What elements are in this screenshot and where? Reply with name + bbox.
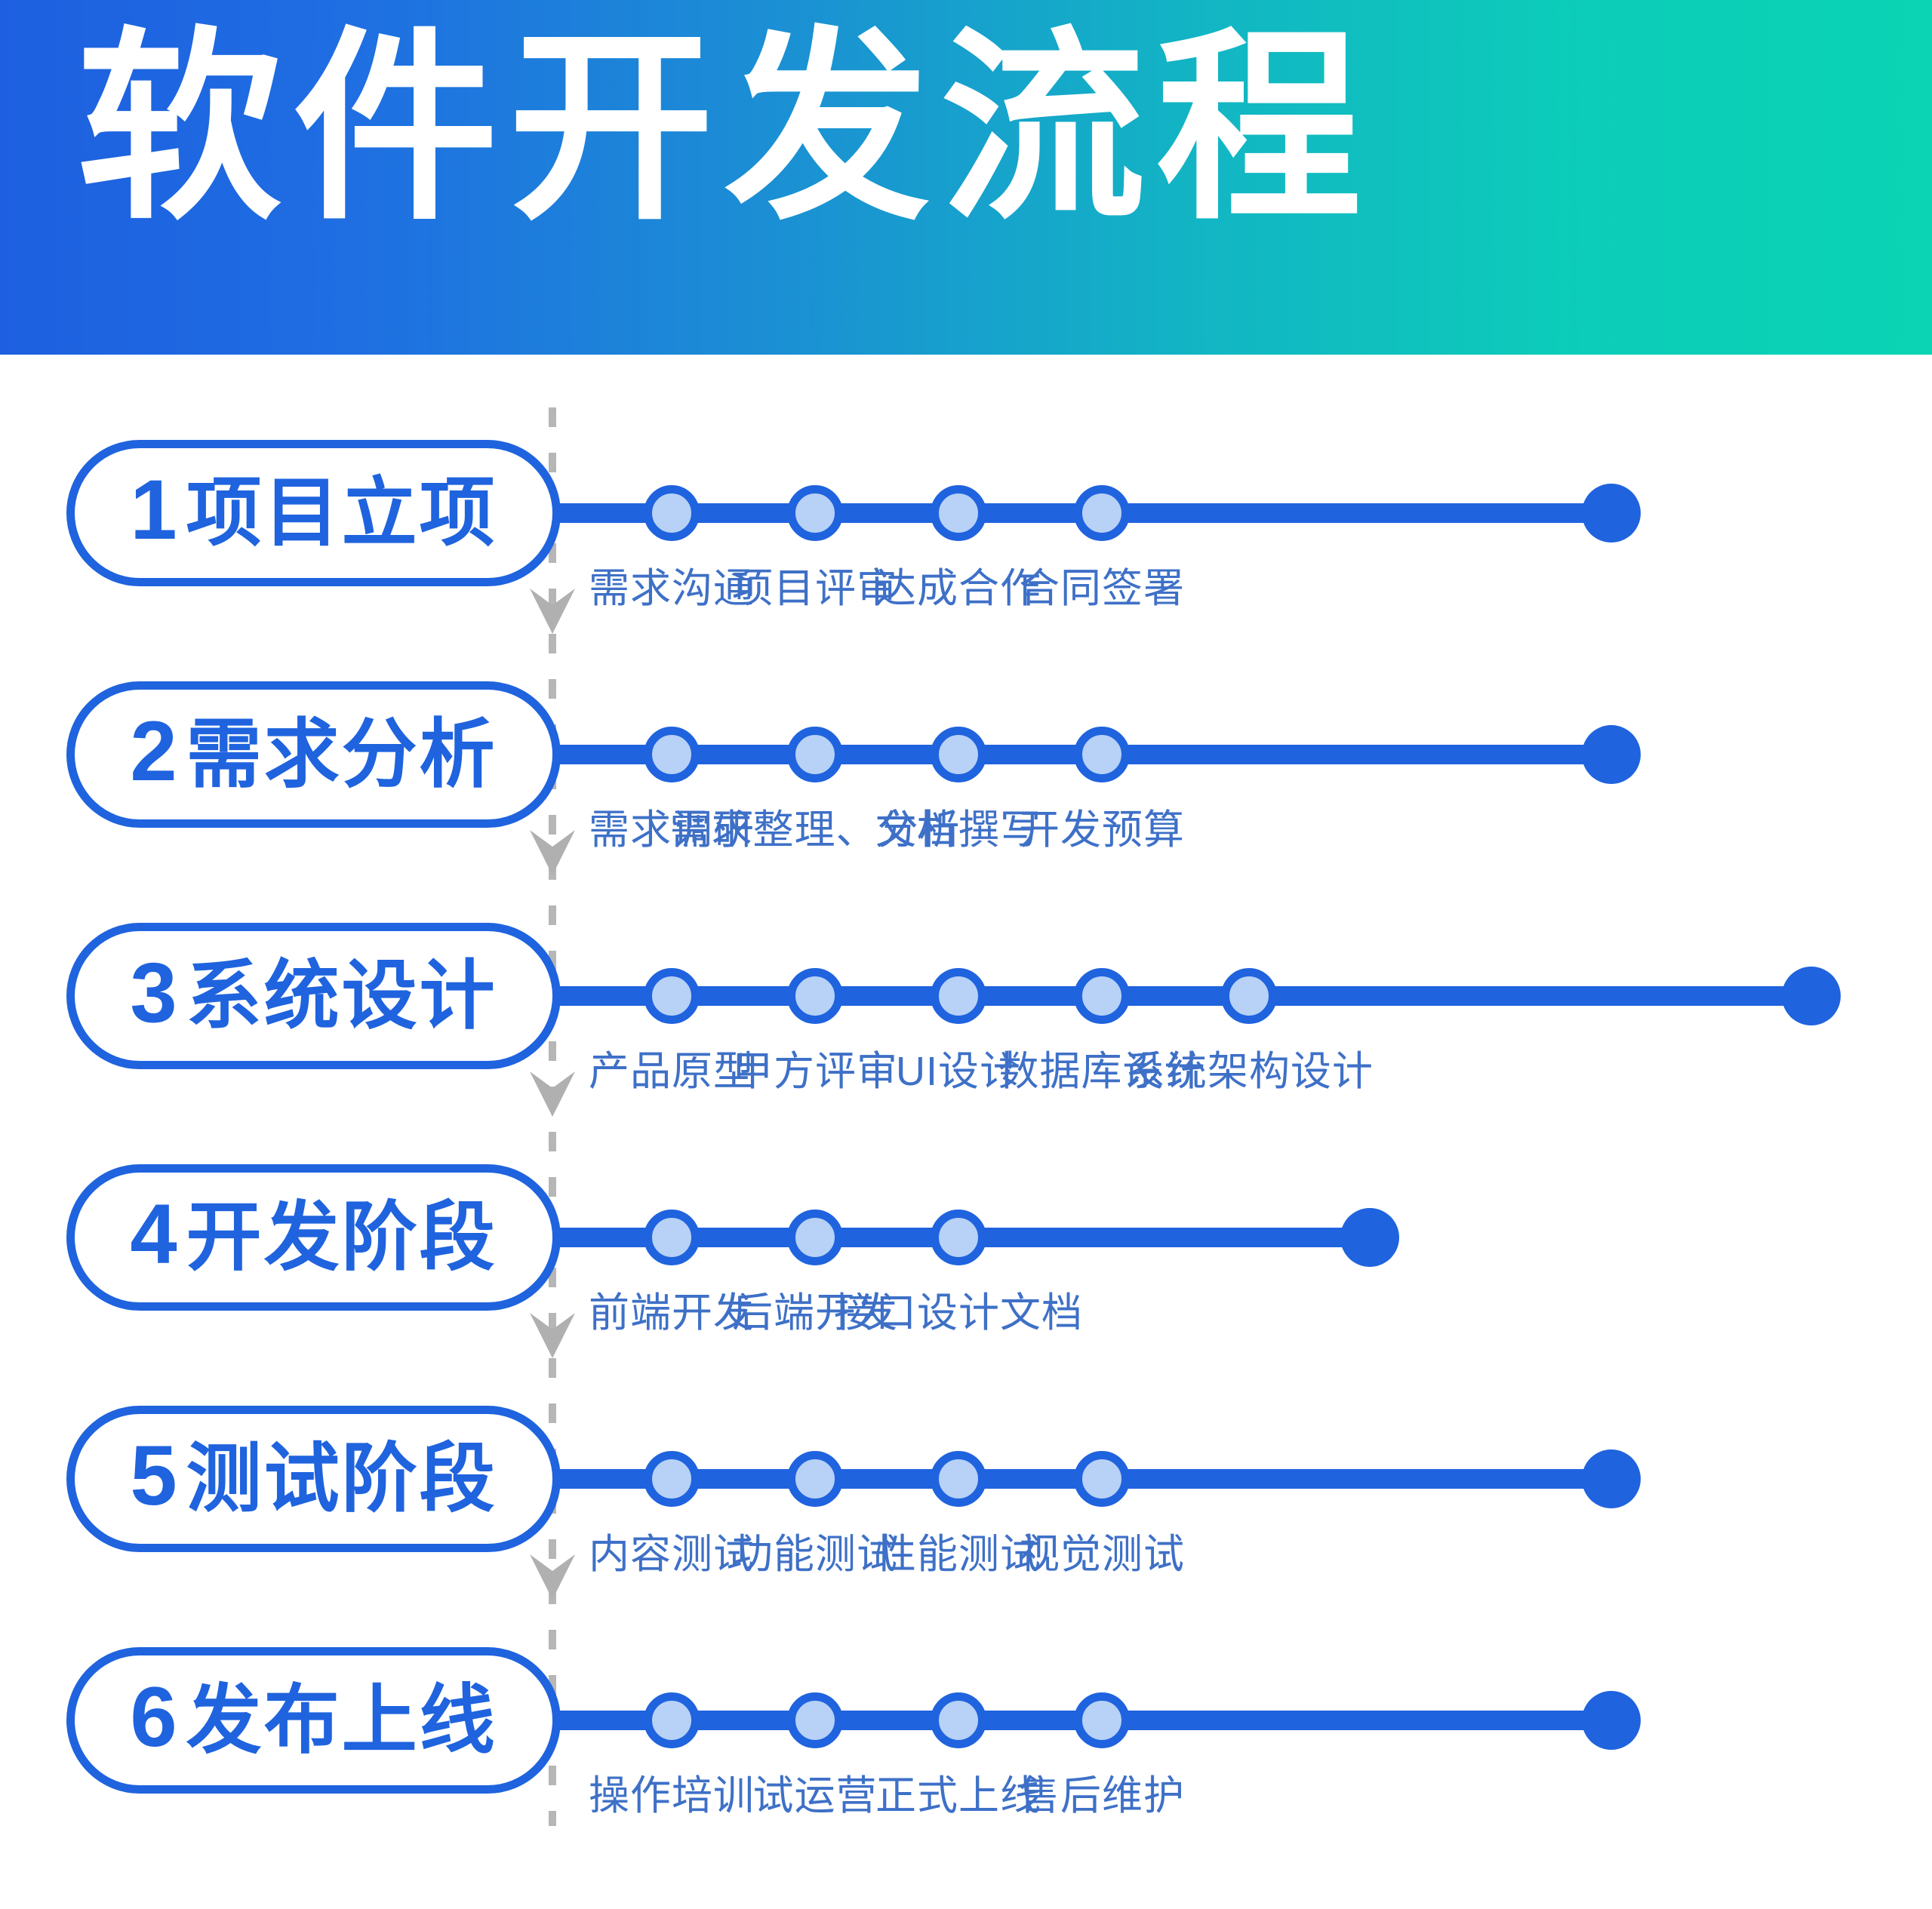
- timeline-node[interactable]: [787, 485, 843, 541]
- timeline-node[interactable]: [931, 727, 986, 782]
- timeline-step-label: 性能测试: [875, 1520, 1041, 1580]
- timeline-node[interactable]: [644, 1451, 700, 1507]
- timeline-node[interactable]: [787, 1210, 843, 1265]
- timeline-step-label: 系统架构设计: [1124, 1037, 1374, 1097]
- stage-pill-2[interactable]: 2 需求分析: [66, 681, 561, 828]
- timeline-step-label: 文档撰写: [875, 796, 1041, 856]
- timeline-end-dot: [1340, 1208, 1399, 1267]
- header-banner: 软件开发流程: [0, 0, 1932, 355]
- stage-pill-4[interactable]: 4 开发阶段: [66, 1164, 561, 1311]
- stage-name: 发布上线: [186, 1683, 497, 1758]
- timeline-step-label: 项目评审: [732, 555, 898, 614]
- stage-row: 2 需求分析 需求调研 需求整理、分析 文档撰写 开发预算: [0, 638, 1932, 879]
- timeline-node[interactable]: [1221, 968, 1277, 1024]
- timeline-step-label: 接口设计文档: [834, 1279, 1083, 1339]
- stage-name: 开发阶段: [186, 1200, 497, 1275]
- timeline-node[interactable]: [644, 485, 700, 541]
- timeline-node[interactable]: [1074, 968, 1130, 1024]
- stage-number: 4: [130, 1192, 177, 1277]
- timeline-end-dot: [1582, 1449, 1641, 1508]
- timeline-node[interactable]: [644, 727, 700, 782]
- stage-row: 6 发布上线 操作培训 试运营 正式上线 售后维护: [0, 1603, 1932, 1845]
- timeline-node[interactable]: [787, 727, 843, 782]
- timeline-node[interactable]: [931, 1692, 986, 1748]
- stage-pill-3[interactable]: 3 系统设计: [66, 923, 561, 1069]
- stage-name: 需求分析: [186, 717, 497, 792]
- stage-number: 6: [130, 1675, 177, 1760]
- timeline-node[interactable]: [931, 968, 986, 1024]
- timeline-end-dot: [1782, 967, 1841, 1025]
- timeline-track: [528, 986, 1815, 1006]
- flow-diagram: 1 项目立项 需求沟通 项目评审 达成合作 合同签署 2 需求分析 需求调研 需…: [0, 355, 1932, 1909]
- timeline-step-label: 操作培训: [589, 1762, 755, 1821]
- timeline-node[interactable]: [787, 1692, 843, 1748]
- timeline-node[interactable]: [931, 1210, 986, 1265]
- stage-name: 系统设计: [186, 958, 497, 1034]
- timeline-node[interactable]: [1074, 1692, 1130, 1748]
- timeline-node[interactable]: [1074, 727, 1130, 782]
- timeline-step-label: 试运营: [753, 1762, 878, 1821]
- stage-number: 1: [130, 468, 177, 552]
- timeline-step-label: 产品原型: [589, 1037, 755, 1097]
- timeline-node[interactable]: [644, 1210, 700, 1265]
- page-title: 软件开发流程: [77, 26, 1372, 231]
- timeline-node[interactable]: [787, 1451, 843, 1507]
- stage-row: 3 系统设计 产品原型 甲方评审 UI设计 数据库设计 系统架构设计: [0, 879, 1932, 1120]
- timeline-node[interactable]: [787, 968, 843, 1024]
- timeline-node[interactable]: [1074, 485, 1130, 541]
- timeline-node[interactable]: [931, 1451, 986, 1507]
- timeline-step-label: 合同签署: [1019, 555, 1185, 614]
- timeline-node[interactable]: [644, 1692, 700, 1748]
- timeline-step-label: 正式上线: [875, 1762, 1041, 1821]
- timeline-end-dot: [1582, 725, 1641, 784]
- stage-number: 5: [130, 1434, 177, 1518]
- timeline-step-label: 达成合作: [875, 555, 1041, 614]
- timeline-step-label: 视觉测试: [1019, 1520, 1185, 1580]
- timeline-node[interactable]: [1074, 1451, 1130, 1507]
- timeline-node[interactable]: [644, 968, 700, 1024]
- timeline-step-label: 内容测试: [589, 1520, 755, 1580]
- stage-number: 2: [130, 709, 177, 794]
- stage-name: 测试阶段: [186, 1441, 497, 1517]
- timeline-step-label: 售后维护: [1019, 1762, 1185, 1821]
- stage-row: 5 测试阶段 内容测试 功能测试 性能测试 视觉测试: [0, 1362, 1932, 1603]
- stage-pill-5[interactable]: 5 测试阶段: [66, 1406, 561, 1552]
- timeline-step-label: 功能测试: [732, 1520, 898, 1580]
- timeline-step-label: 开发预算: [1019, 796, 1185, 856]
- stage-pill-1[interactable]: 1 项目立项: [66, 440, 561, 586]
- timeline-end-dot: [1582, 1691, 1641, 1750]
- stage-row: 4 开发阶段 前端开发 后端开发 接口设计文档: [0, 1120, 1932, 1362]
- timeline-node[interactable]: [931, 485, 986, 541]
- timeline-step-label: 甲方评审: [732, 1037, 898, 1097]
- timeline-step-label: 需求沟通: [589, 555, 755, 614]
- stage-row: 1 项目立项 需求沟通 项目评审 达成合作 合同签署: [0, 396, 1932, 638]
- stage-name: 项目立项: [186, 475, 497, 551]
- timeline-end-dot: [1582, 484, 1641, 543]
- stage-number: 3: [130, 951, 177, 1035]
- stage-pill-6[interactable]: 6 发布上线: [66, 1647, 561, 1794]
- timeline-step-label: 前端开发: [589, 1279, 755, 1339]
